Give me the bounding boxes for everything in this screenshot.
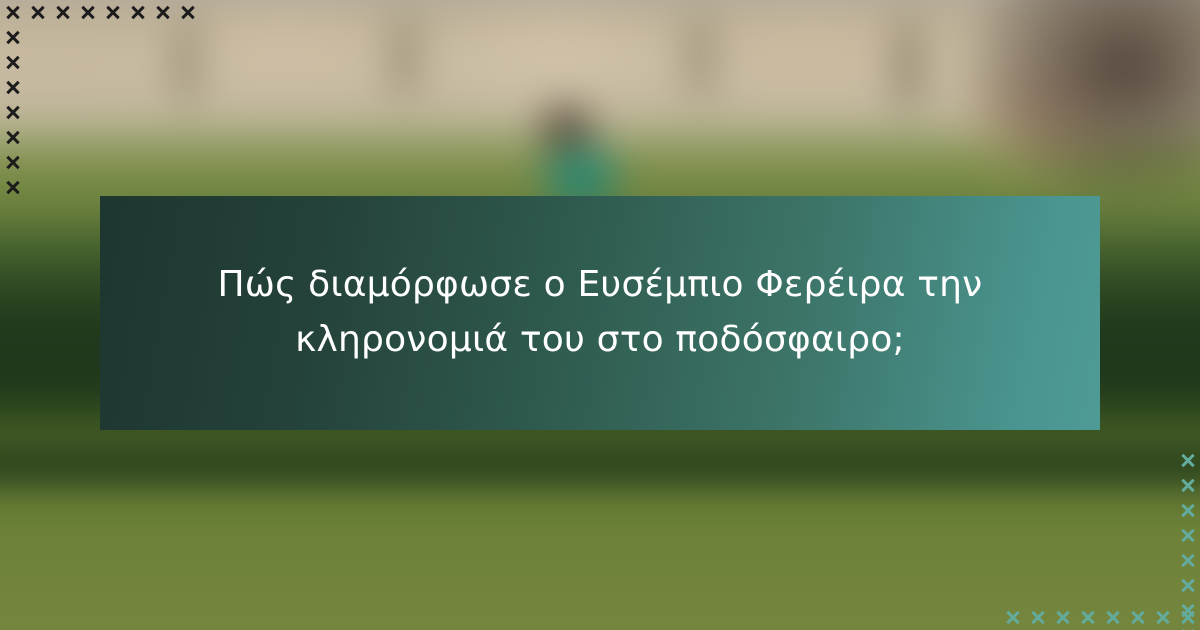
headline-line-2: κληρονομιά του στο ποδόσφαιρο;: [295, 319, 905, 360]
page-title: Πώς διαμόρφωσε ο Ευσέμπιο Φερέιρα την κλ…: [218, 258, 983, 367]
headline-line-1: Πώς διαμόρφωσε ο Ευσέμπιο Φερέιρα την: [218, 264, 983, 305]
headline-card: Πώς διαμόρφωσε ο Ευσέμπιο Φερέιρα την κλ…: [100, 196, 1100, 430]
share-card-canvas: Πώς διαμόρφωσε ο Ευσέμπιο Φερέιρα την κλ…: [0, 0, 1200, 630]
